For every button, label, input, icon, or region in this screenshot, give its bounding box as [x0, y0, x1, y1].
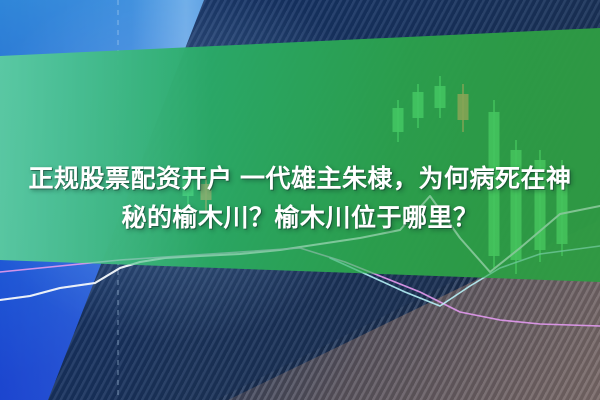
banner-headline: 正规股票配资开户 一代雄主朱棣，为何病死在神 秘的榆木川？榆木川位于哪里？ [0, 160, 600, 238]
headline-line-2: 秘的榆木川？榆木川位于哪里？ [0, 199, 600, 238]
banner-image: 正规股票配资开户 一代雄主朱棣，为何病死在神 秘的榆木川？榆木川位于哪里？ [0, 0, 600, 400]
magenta-average-line-over [0, 248, 600, 326]
headline-line-1: 正规股票配资开户 一代雄主朱棣，为何病死在神 [0, 160, 600, 199]
cyan-lower-line-over [330, 246, 600, 306]
